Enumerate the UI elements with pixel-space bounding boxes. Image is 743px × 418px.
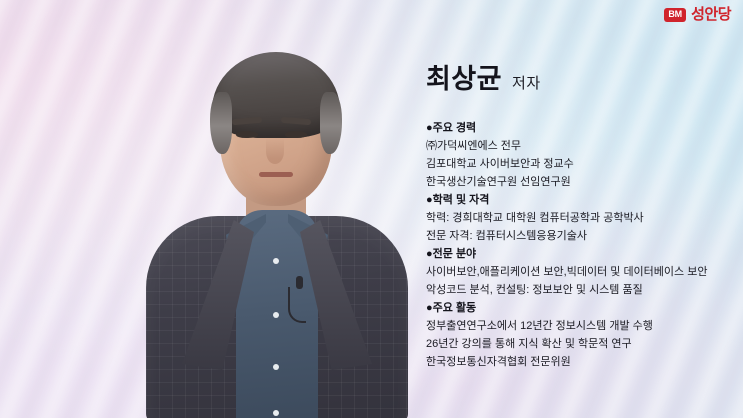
video-slide: BM 성안당 최상균 저자 [0, 0, 743, 418]
profile-panel: 최상균 저자 ●주요 경력 ㈜가덕씨엔에스 전무 김포대학교 사이버보안과 정교… [426, 66, 732, 371]
hair-side-right [320, 92, 342, 154]
section-heading: ●주요 경력 [426, 119, 732, 137]
bm-badge-icon: BM [664, 8, 686, 22]
section-career: ●주요 경력 ㈜가덕씨엔에스 전무 김포대학교 사이버보안과 정교수 한국생산기… [426, 119, 732, 191]
eye-left [236, 131, 258, 138]
publisher-name: 성안당 [691, 7, 731, 22]
section-line: ㈜가덕씨엔에스 전무 [426, 137, 732, 155]
publisher-logo: BM 성안당 [664, 7, 731, 22]
lapel-mic-wire [288, 287, 306, 323]
section-line: 악성코드 분석, 컨설팅: 정보보안 및 시스템 품질 [426, 281, 732, 299]
section-line: 정부출연연구소에서 12년간 정보시스템 개발 수행 [426, 317, 732, 335]
section-education: ●학력 및 자격 학력: 경희대학교 대학원 컴퓨터공학과 공학박사 전문 자격… [426, 191, 732, 245]
mouth [259, 172, 293, 177]
eye-right [285, 131, 307, 138]
section-activities: ●주요 활동 정부출연연구소에서 12년간 정보시스템 개발 수행 26년간 강… [426, 299, 732, 371]
shirt-button [273, 312, 279, 318]
section-heading: ●전문 분야 [426, 245, 732, 263]
shirt-button [273, 364, 279, 370]
section-expertise: ●전문 분야 사이버보안,애플리케이션 보안,빅데이터 및 데이터베이스 보안 … [426, 245, 732, 299]
shirt-button [273, 258, 279, 264]
lapel-mic-icon [296, 276, 303, 289]
shirt-button [273, 410, 279, 416]
hair-side-left [210, 92, 232, 154]
section-line: 26년간 강의를 통해 지식 확산 및 학문적 연구 [426, 335, 732, 353]
section-line: 한국정보통신자격협회 전문위원 [426, 353, 732, 371]
section-line: 학력: 경희대학교 대학원 컴퓨터공학과 공학박사 [426, 209, 732, 227]
author-role: 저자 [512, 76, 541, 91]
section-line: 김포대학교 사이버보안과 정교수 [426, 155, 732, 173]
section-heading: ●주요 활동 [426, 299, 732, 317]
section-heading: ●학력 및 자격 [426, 191, 732, 209]
section-line: 전문 자격: 컴퓨터시스템응용기술사 [426, 227, 732, 245]
section-line: 사이버보안,애플리케이션 보안,빅데이터 및 데이터베이스 보안 [426, 263, 732, 281]
speaker-photo [148, 44, 404, 418]
author-name: 최상균 [426, 66, 502, 93]
profile-title: 최상균 저자 [426, 66, 732, 93]
nose [266, 138, 284, 164]
section-line: 한국생산기술연구원 선임연구원 [426, 173, 732, 191]
